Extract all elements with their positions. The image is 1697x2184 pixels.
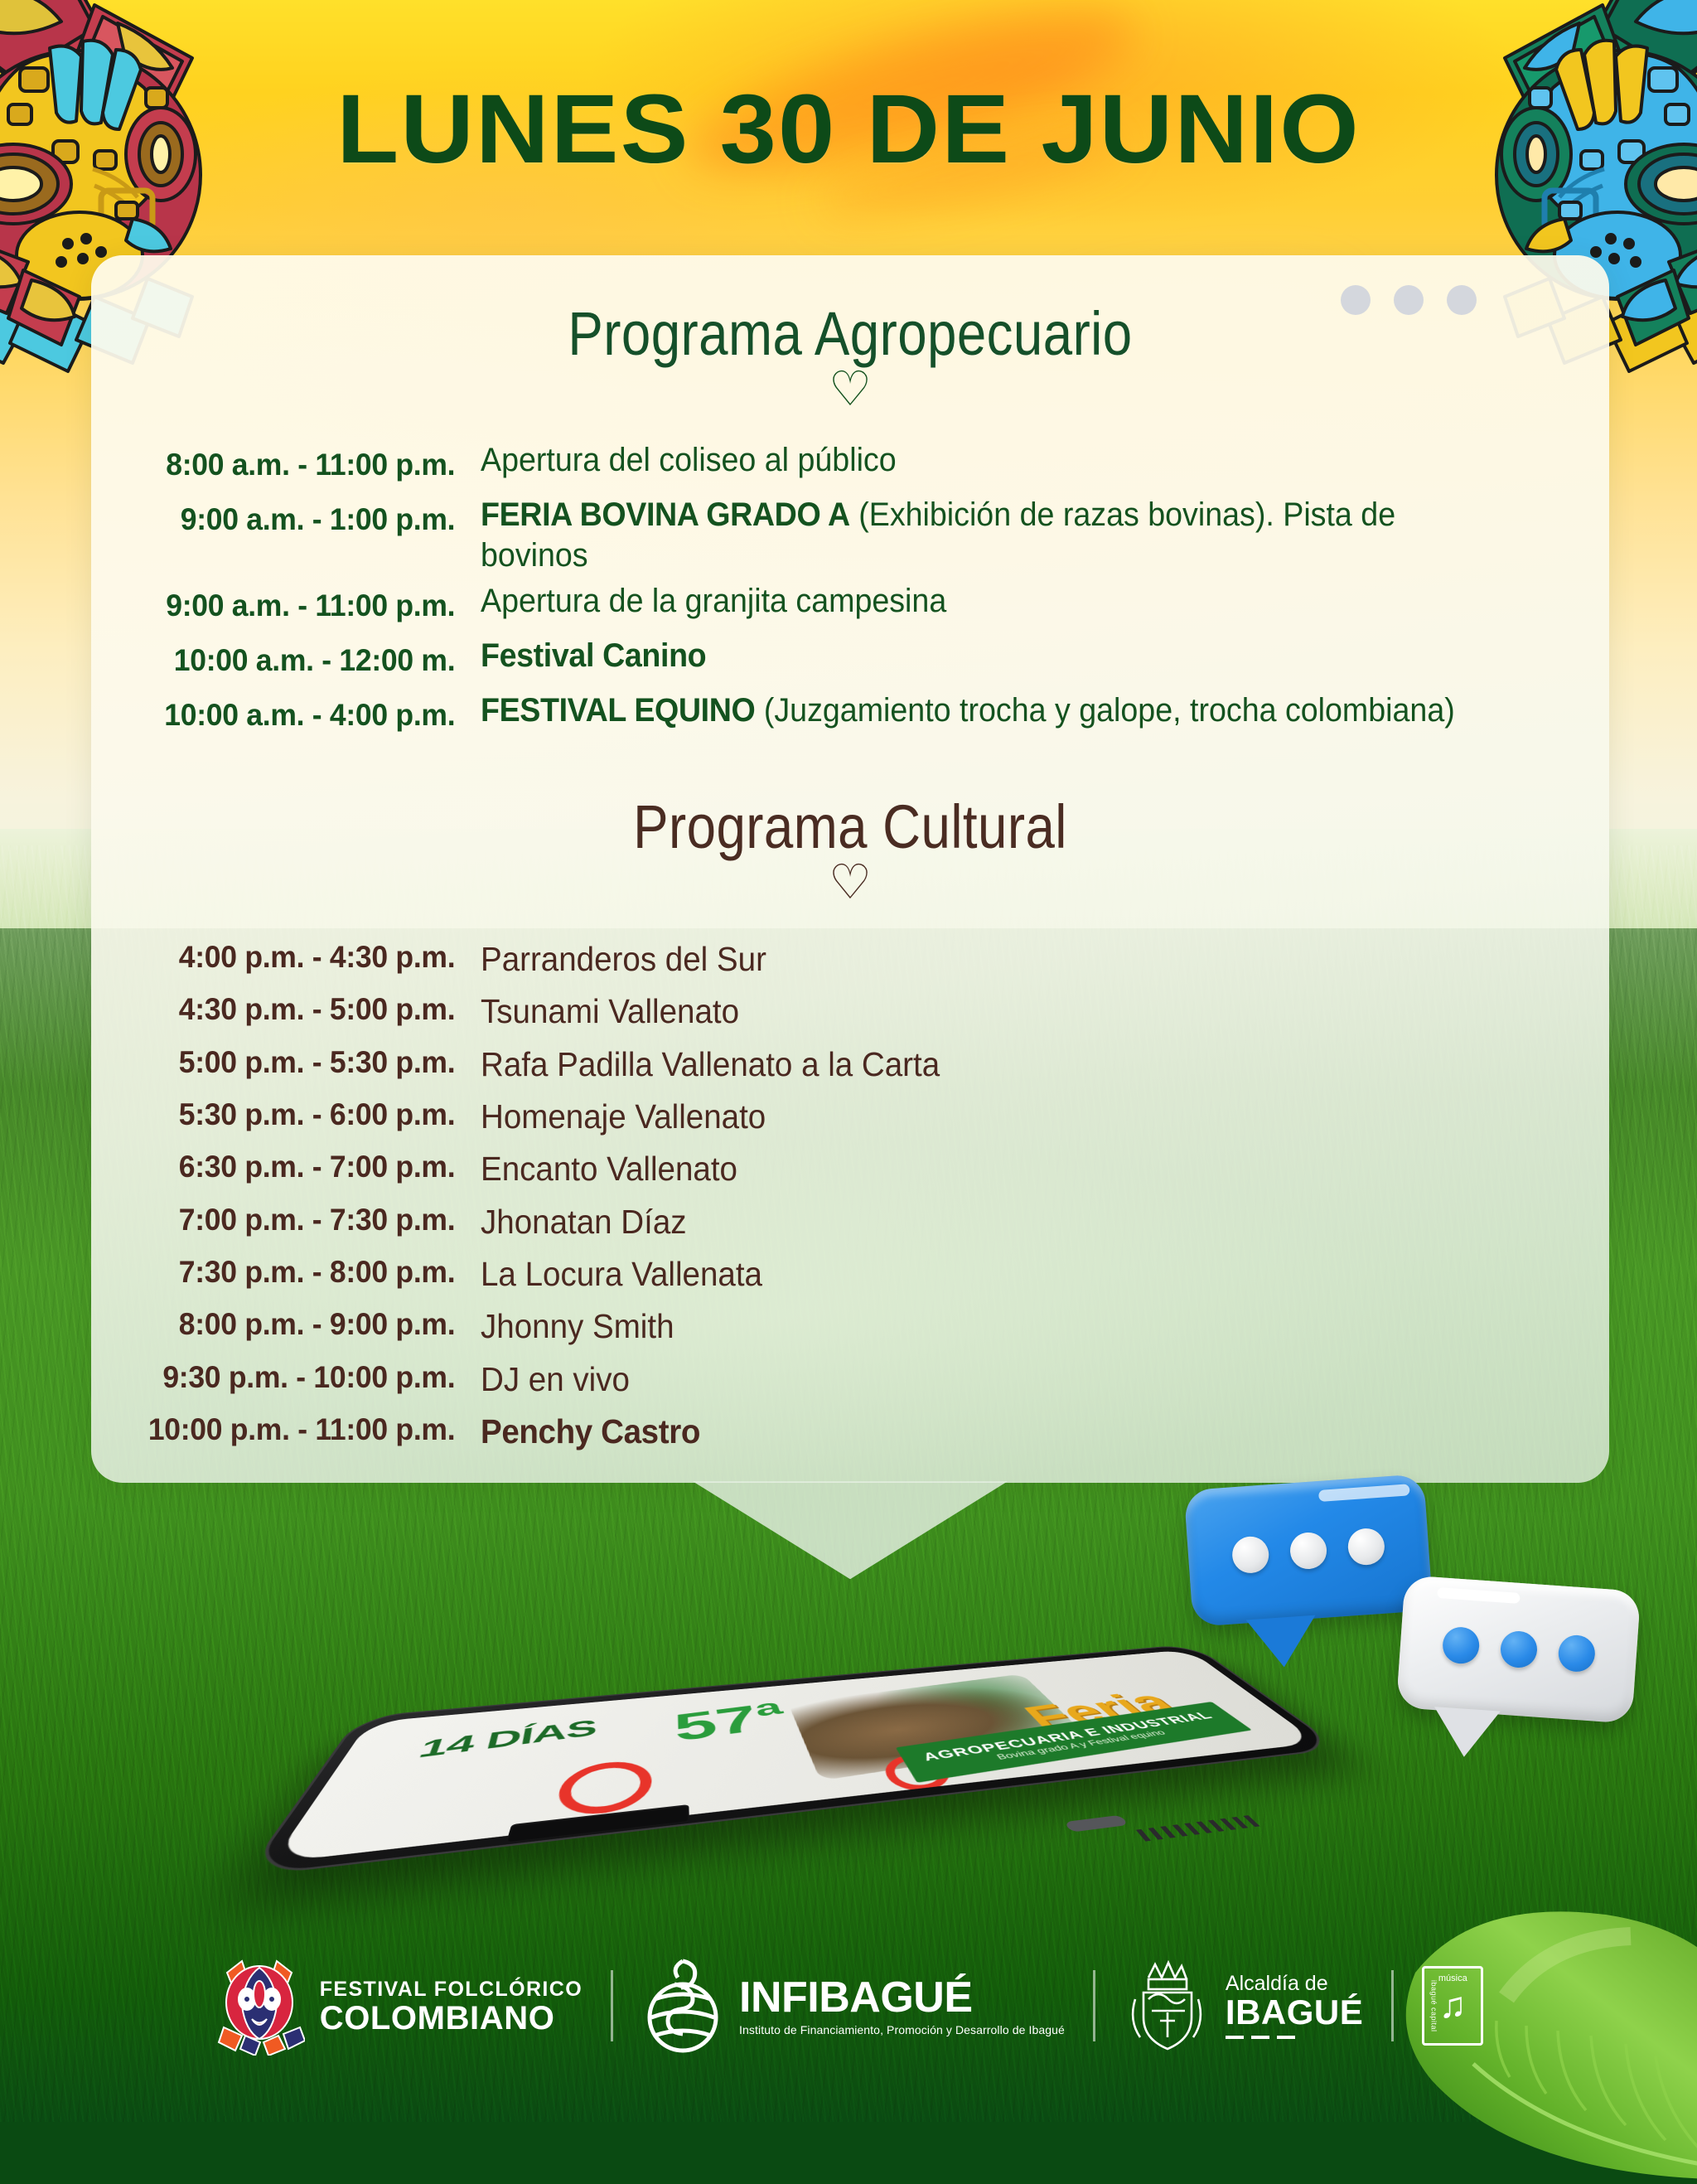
agro-schedule-list: 8:00 a.m. - 11:00 p.m.Apertura del colis… [91,440,1609,739]
schedule-row: 7:30 p.m. - 8:00 p.m.La Locura Vallenata [91,1248,1609,1300]
poster-edition-label: 57ª [671,1695,793,1751]
bubble-dot-icon [1499,1630,1538,1669]
bubble-dot-icon [1231,1535,1270,1574]
schedule-row: 5:00 p.m. - 5:30 p.m.Rafa Padilla Vallen… [91,1039,1609,1090]
music-vertical-label: ibagué capital [1429,1980,1438,2032]
bubble-dot-icon [1289,1531,1328,1570]
schedule-description: Festival Canino [481,636,1541,676]
schedule-description: Rafa Padilla Vallenato a la Carta [481,1039,1541,1090]
bubble-gloss [1318,1484,1410,1502]
schedule-description: FERIA BOVINA GRADO A (Exhibición de raza… [481,495,1541,576]
alcaldia-logo: Alcaldía de IBAGUÉ [1124,1956,1363,2056]
schedule-description: Homenaje Vallenato [481,1091,1541,1142]
cultural-schedule-list: 4:00 p.m. - 4:30 p.m.Parranderos del Sur… [91,933,1609,1457]
chat-bubble-blue-icon [1184,1474,1434,1627]
schedule-time: 10:00 p.m. - 11:00 p.m. [107,1406,481,1454]
festival-folclorico-logo: FESTIVAL FOLCLÓRICO COLOMBIANO [214,1956,583,2056]
schedule-row: 4:30 p.m. - 5:00 p.m.Tsunami Vallenato [91,985,1609,1037]
schedule-time: 4:30 p.m. - 5:00 p.m. [107,985,481,1034]
schedule-description: DJ en vivo [481,1353,1541,1405]
schedule-row: 9:30 p.m. - 10:00 p.m.DJ en vivo [91,1353,1609,1405]
cultural-section-title: Programa Cultural [197,792,1503,862]
alcaldia-dashes [1226,2036,1363,2039]
schedule-row: 10:00 p.m. - 11:00 p.m.Penchy Castro [91,1406,1609,1457]
bubble-gloss [1437,1587,1521,1604]
footer-divider [1391,1970,1394,2041]
schedule-description: Apertura de la granjita campesina [481,581,1541,622]
schedule-description: FESTIVAL EQUINO (Juzgamiento trocha y ga… [481,690,1541,731]
schedule-description: Tsunami Vallenato [481,985,1541,1037]
music-note-icon: ♫ [1439,1988,1467,2024]
schedule-time: 10:00 a.m. - 12:00 m. [107,636,481,685]
page-title: LUNES 30 DE JUNIO [0,73,1697,186]
schedule-time: 9:30 p.m. - 10:00 p.m. [107,1353,481,1402]
ibague-capital-musical-logo: música ♫ ibagué capital [1422,1966,1483,2046]
schedule-row: 4:00 p.m. - 4:30 p.m.Parranderos del Sur [91,933,1609,985]
bubble-dot-icon [1346,1527,1385,1566]
infibague-mark-icon [641,1956,724,2056]
schedule-time: 6:30 p.m. - 7:00 p.m. [107,1143,481,1191]
schedule-description-emphasis: FERIA BOVINA GRADO A [481,496,850,533]
schedule-time: 7:30 p.m. - 8:00 p.m. [107,1248,481,1296]
schedule-time: 4:00 p.m. - 4:30 p.m. [107,933,481,981]
phone-charge-port [1064,1815,1129,1833]
schedule-time: 10:00 a.m. - 4:00 p.m. [107,690,481,740]
schedule-description-emphasis: Festival Canino [481,637,706,674]
schedule-row: 9:00 a.m. - 1:00 p.m.FERIA BOVINA GRADO … [91,495,1609,576]
music-top-label: música [1438,1973,1467,1983]
infibague-tagline: Instituto de Financiamiento, Promoción y… [739,2023,1065,2036]
infibague-logo: INFIBAGUÉ Instituto de Financiamiento, P… [641,1956,1065,2056]
program-card: Programa Agropecuario ♡ 8:00 a.m. - 11:0… [91,255,1609,1483]
schedule-time: 8:00 a.m. - 11:00 p.m. [107,440,481,490]
bubble-dot-icon [1557,1634,1596,1673]
program-card-wrapper: Programa Agropecuario ♡ 8:00 a.m. - 11:0… [91,255,1609,1483]
bubble-tail [1246,1615,1319,1670]
schedule-time: 5:00 p.m. - 5:30 p.m. [107,1039,481,1087]
schedule-row: 5:30 p.m. - 6:00 p.m.Homenaje Vallenato [91,1091,1609,1142]
schedule-description: Jhonatan Díaz [481,1196,1541,1247]
footer-divider [1093,1970,1095,2041]
coat-of-arms-icon [1124,1956,1211,2056]
festival-line1: FESTIVAL FOLCLÓRICO [320,1978,583,2002]
bubble-dot-icon [1441,1626,1480,1665]
footer-divider [611,1970,613,2041]
poster-days-label: 14 DÍAS [414,1715,597,1764]
phone-body: 14 DÍAS 57ª Feria AGROPECUARIA E INDUSTR… [243,1644,1342,1877]
schedule-description: Encanto Vallenato [481,1143,1541,1194]
schedule-row: 10:00 a.m. - 12:00 m.Festival Canino [91,636,1609,685]
schedule-row: 8:00 a.m. - 11:00 p.m.Apertura del colis… [91,440,1609,490]
heart-divider-icon: ♡ [91,864,1609,902]
jaguar-mask-icon [214,1956,305,2056]
schedule-description: Penchy Castro [481,1406,1541,1457]
schedule-description-emphasis: Penchy Castro [481,1412,700,1450]
heart-divider-icon: ♡ [91,370,1609,409]
schedule-time: 8:00 p.m. - 9:00 p.m. [107,1300,481,1349]
schedule-description: Parranderos del Sur [481,933,1541,985]
schedule-time: 5:30 p.m. - 6:00 p.m. [107,1091,481,1139]
footer-logos: FESTIVAL FOLCLÓRICO COLOMBIANO INFIBAGUÉ… [0,1956,1697,2056]
agro-section-title: Programa Agropecuario [197,298,1503,369]
schedule-time: 7:00 p.m. - 7:30 p.m. [107,1196,481,1244]
schedule-description: La Locura Vallenata [481,1248,1541,1300]
schedule-description-emphasis: FESTIVAL EQUINO [481,692,755,729]
schedule-time: 9:00 a.m. - 11:00 p.m. [107,581,481,631]
schedule-row: 9:00 a.m. - 11:00 p.m.Apertura de la gra… [91,581,1609,631]
infibague-name: INFIBAGUÉ [739,1976,1065,2019]
schedule-row: 8:00 p.m. - 9:00 p.m.Jhonny Smith [91,1300,1609,1352]
schedule-description: Apertura del coliseo al público [481,440,1541,481]
phone-speaker-grille [1136,1814,1267,1842]
alcaldia-line1: Alcaldía de [1226,1973,1363,1996]
schedule-row: 6:30 p.m. - 7:00 p.m.Encanto Vallenato [91,1143,1609,1194]
schedule-time: 9:00 a.m. - 1:00 p.m. [107,495,481,545]
alcaldia-line2: IBAGUÉ [1226,1995,1363,2030]
chat-bubble-white-icon [1396,1575,1641,1723]
schedule-row: 7:00 p.m. - 7:30 p.m.Jhonatan Díaz [91,1196,1609,1247]
festival-line2: COLOMBIANO [320,2002,583,2035]
phone-mockup: 14 DÍAS 57ª Feria AGROPECUARIA E INDUSTR… [356,1608,1334,1881]
bubble-tail [1431,1707,1501,1759]
schedule-row: 10:00 a.m. - 4:00 p.m.FESTIVAL EQUINO (J… [91,690,1609,740]
schedule-description: Jhonny Smith [481,1300,1541,1352]
